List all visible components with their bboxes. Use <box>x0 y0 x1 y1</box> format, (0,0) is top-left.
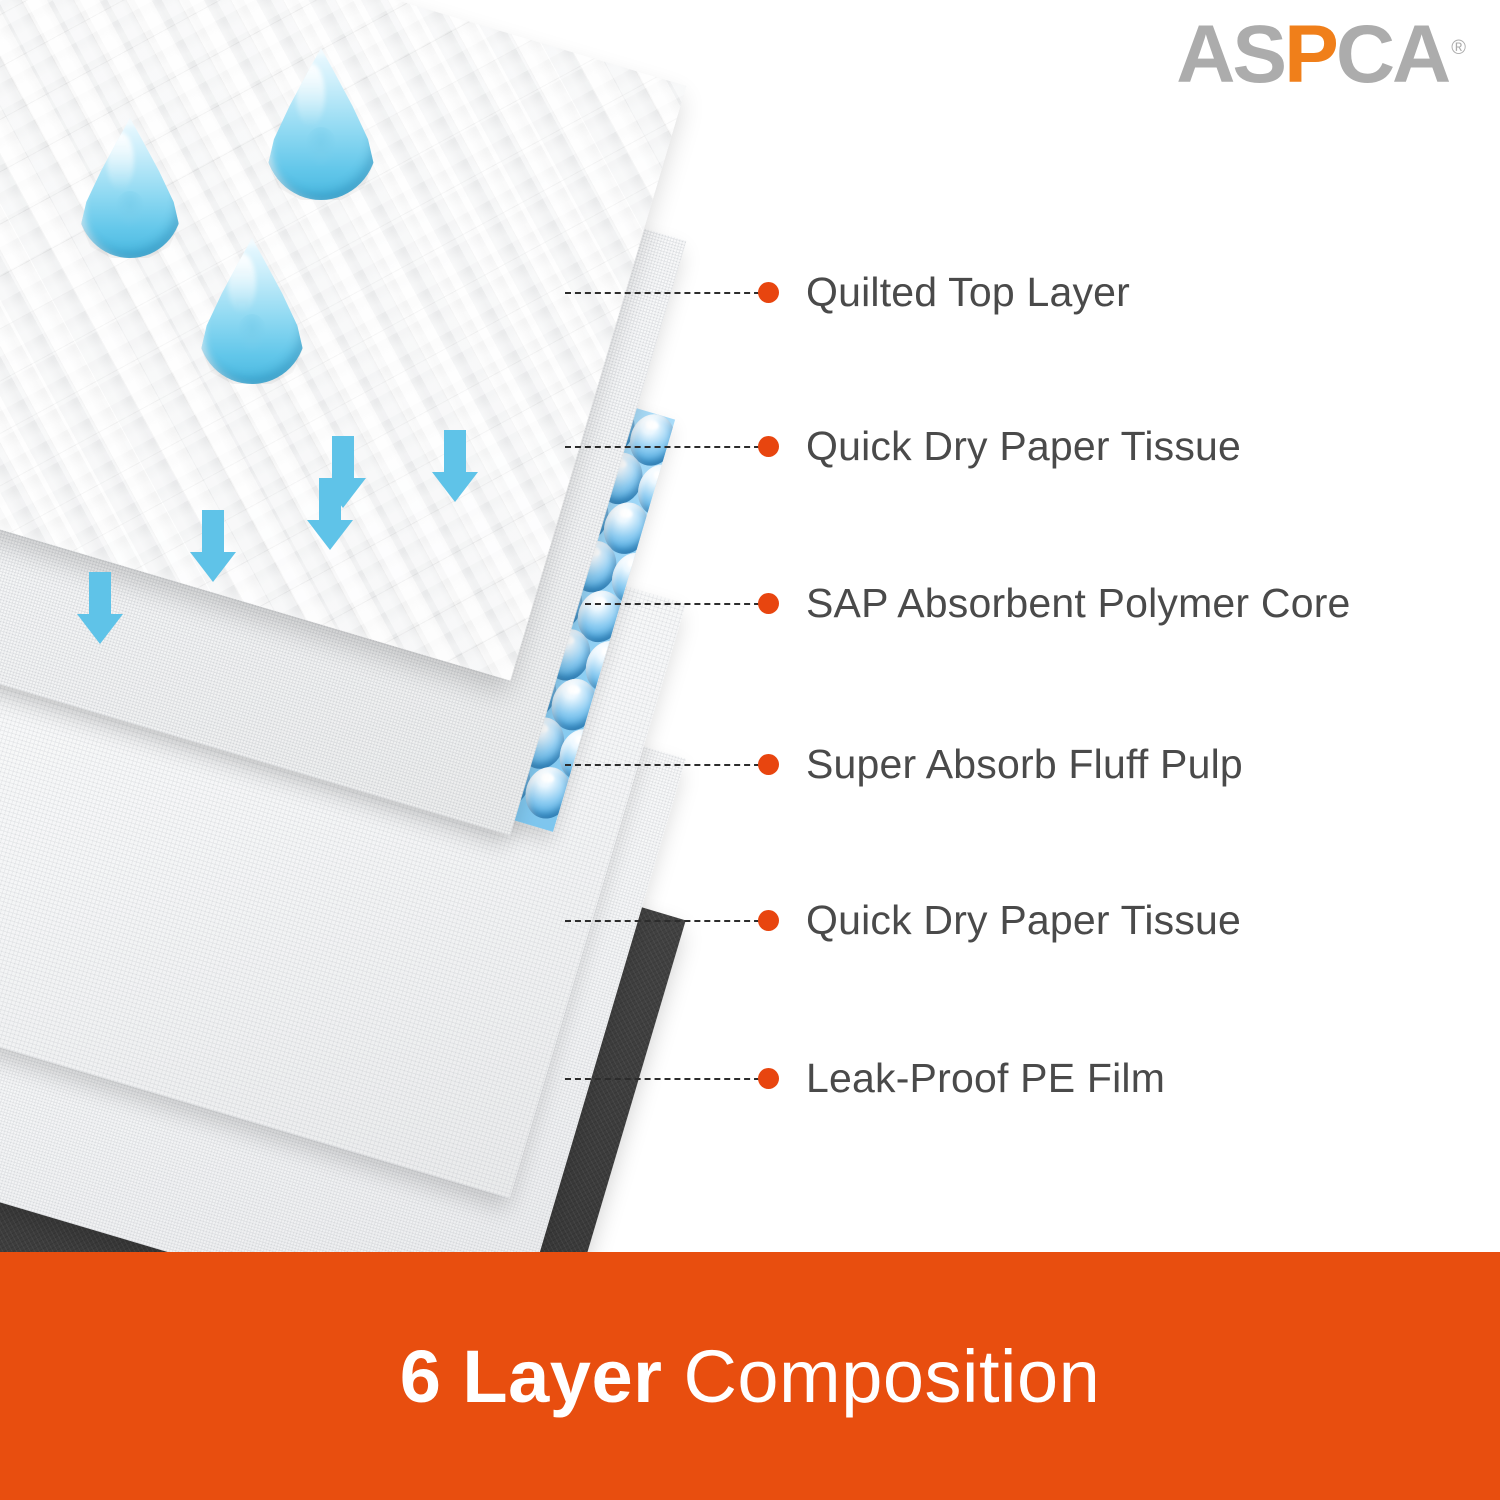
logo-text-as: AS <box>1176 9 1284 100</box>
layer-marker-dot <box>758 754 779 775</box>
arrow-stem <box>444 430 466 474</box>
layer-label-paper-tissue-1: Quick Dry Paper Tissue <box>806 423 1241 470</box>
droplet-core <box>237 314 267 352</box>
logo-text-p: P <box>1284 9 1336 100</box>
droplet-gloss <box>296 63 325 127</box>
leader-line <box>565 446 770 448</box>
layer-marker-dot <box>758 282 779 303</box>
leader-line <box>585 603 770 605</box>
arrow-head <box>77 614 123 644</box>
arrow-stem <box>332 436 354 480</box>
droplet-body <box>198 238 306 384</box>
layer-stack-illustration <box>0 0 880 1255</box>
layer-marker-dot <box>758 910 779 931</box>
layer-marker-dot <box>758 1068 779 1089</box>
arrow-head <box>320 478 366 508</box>
droplet-core <box>115 191 144 227</box>
layer-marker-dot <box>758 436 779 457</box>
layer-label-quilted-top: Quilted Top Layer <box>806 269 1130 316</box>
leader-line <box>565 292 770 294</box>
water-droplet-icon <box>198 238 306 384</box>
banner-text: 6 Layer Composition <box>400 1334 1101 1419</box>
logo-text-ca: CA <box>1336 9 1448 100</box>
leader-line <box>565 764 770 766</box>
droplet-body <box>78 118 182 258</box>
layer-label-fluff-pulp: Super Absorb Fluff Pulp <box>806 741 1243 788</box>
water-droplet-icon <box>265 48 377 200</box>
arrow-head <box>307 520 353 550</box>
droplet-gloss <box>107 132 134 191</box>
droplet-body <box>265 48 377 200</box>
layer-label-sap-core: SAP Absorbent Polymer Core <box>806 580 1351 627</box>
leader-line <box>565 1078 770 1080</box>
sap-bead <box>672 471 675 533</box>
water-droplet-icon <box>78 118 182 258</box>
arrow-head <box>432 472 478 502</box>
banner-text-bold: 6 Layer <box>400 1335 663 1418</box>
layer-label-paper-tissue-2: Quick Dry Paper Tissue <box>806 897 1241 944</box>
arrow-head <box>190 552 236 582</box>
leader-line <box>565 920 770 922</box>
arrow-stem <box>202 510 224 554</box>
layer-marker-dot <box>758 593 779 614</box>
banner-text-regular: Composition <box>662 1335 1100 1418</box>
droplet-gloss <box>228 253 256 314</box>
composition-banner: 6 Layer Composition <box>0 1252 1500 1500</box>
infographic-page: ASPCA® <box>0 0 1500 1500</box>
registered-trademark-icon: ® <box>1451 37 1466 59</box>
aspca-logo: ASPCA® <box>1176 14 1466 96</box>
arrow-stem <box>89 572 111 616</box>
layer-label-pe-film: Leak-Proof PE Film <box>806 1055 1165 1102</box>
droplet-core <box>305 127 336 167</box>
